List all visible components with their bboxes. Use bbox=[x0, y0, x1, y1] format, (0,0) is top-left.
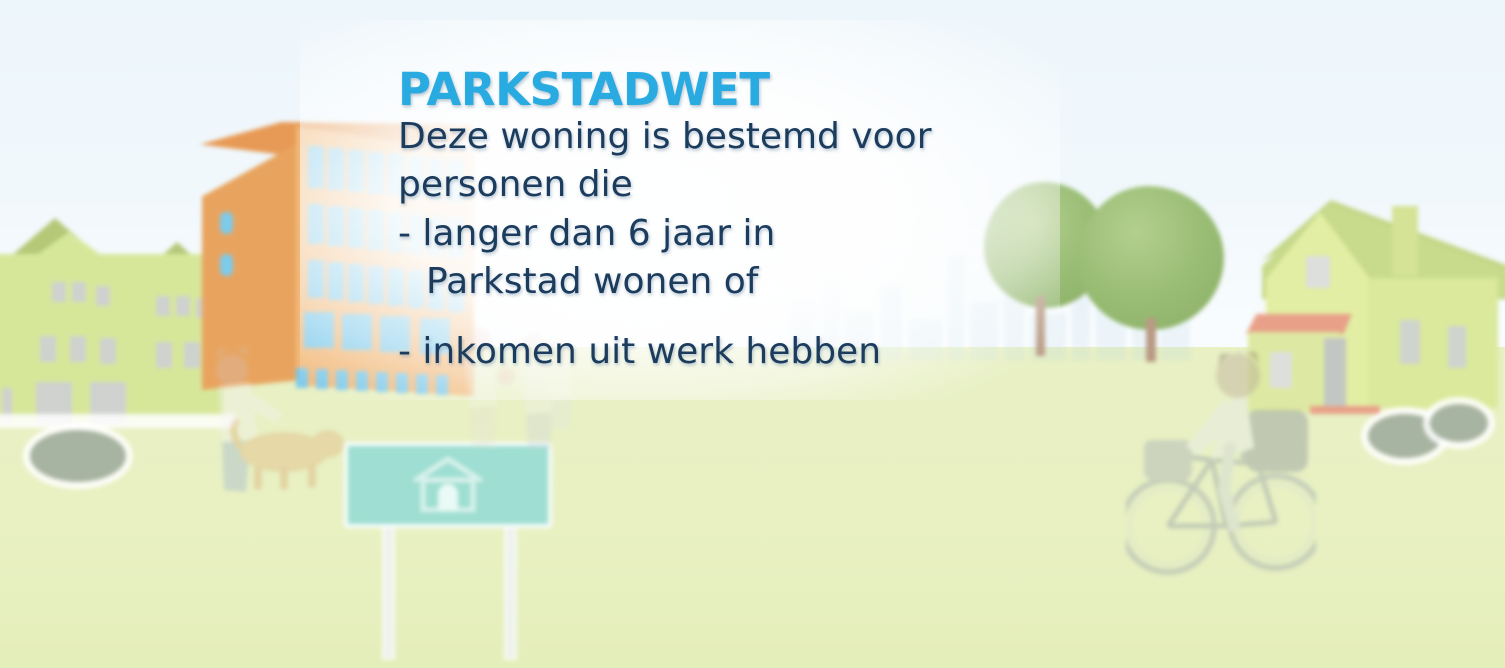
billboard-sign bbox=[340, 438, 550, 658]
sign-post-right bbox=[506, 518, 515, 658]
sign-panel bbox=[344, 442, 552, 528]
parkstadwet-banner: PARKSTADWET Deze woning is bestemd voor … bbox=[0, 0, 1505, 668]
notice-line-1: Deze woning is bestemd voor bbox=[398, 113, 1038, 161]
notice-text-block: PARKSTADWET Deze woning is bestemd voor … bbox=[398, 66, 1038, 376]
page-title: PARKSTADWET bbox=[398, 66, 1038, 113]
bush-right-b bbox=[1430, 404, 1488, 442]
notice-line-2: personen die bbox=[398, 161, 1038, 209]
house-pictogram-icon bbox=[408, 454, 488, 512]
sign-post-left bbox=[384, 518, 393, 658]
notice-line-4: Parkstad wonen of bbox=[398, 258, 1038, 306]
notice-line-3: - langer dan 6 jaar in bbox=[398, 210, 1038, 258]
cyclist bbox=[1126, 330, 1316, 590]
dog-walker bbox=[188, 348, 348, 498]
notice-line-5: - inkomen uit werk hebben bbox=[398, 328, 1038, 376]
bush-left bbox=[30, 430, 126, 482]
